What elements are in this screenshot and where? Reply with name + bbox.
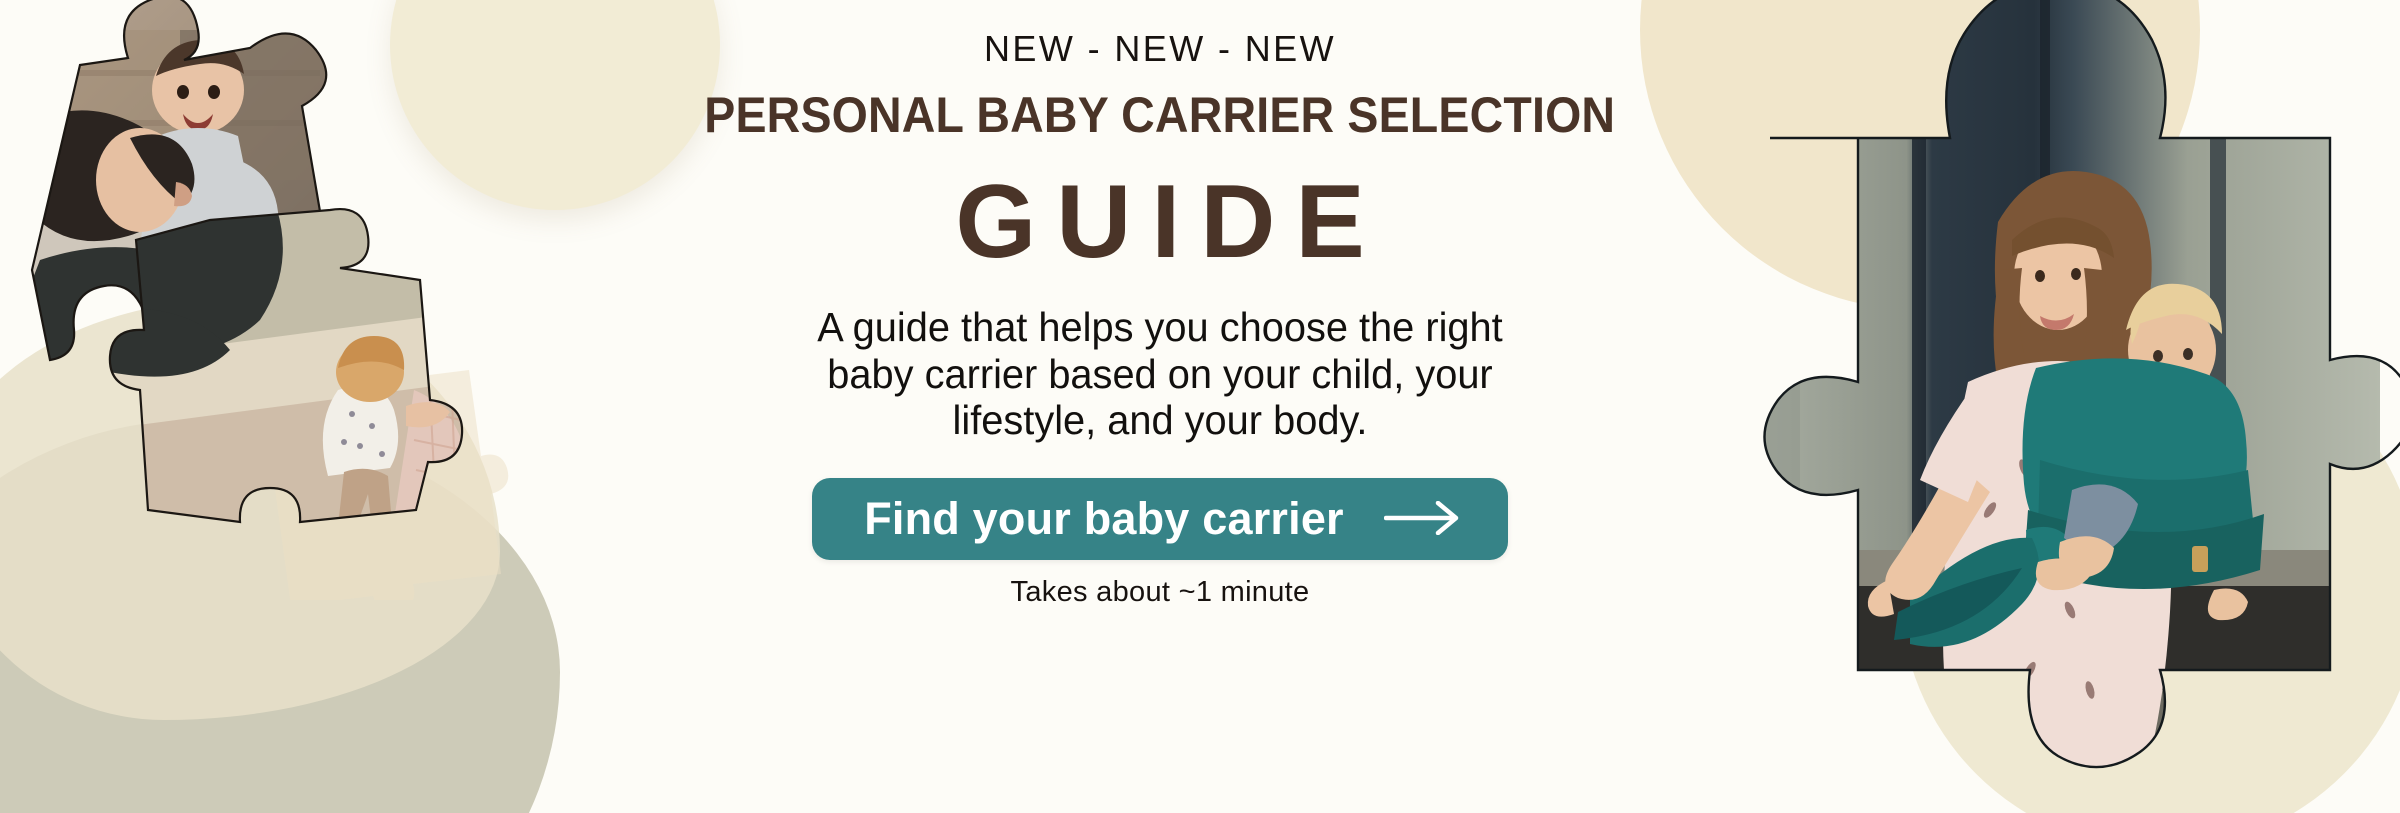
headline-text: PERSONAL BABY CARRIER SELECTION [705,86,1616,144]
eyebrow-text: NEW - NEW - NEW [984,28,1336,70]
cta-label: Find your baby carrier [864,493,1344,545]
arrow-right-icon [1384,501,1462,538]
find-your-baby-carrier-button[interactable]: Find your baby carrier [812,478,1508,560]
footnote-text: Takes about ~1 minute [1011,576,1310,609]
cream-circle-left [390,0,720,210]
puzzle-piece-babywearing-mother [1740,0,2380,813]
puzzle-piece-toddler-beach [120,210,450,540]
description-paragraph: A guide that helps you choose the right … [811,304,1509,444]
hero-word-guide: GUIDE [935,170,1384,274]
promo-banner: NEW - NEW - NEW PERSONAL BABY CARRIER SE… [0,0,2400,813]
